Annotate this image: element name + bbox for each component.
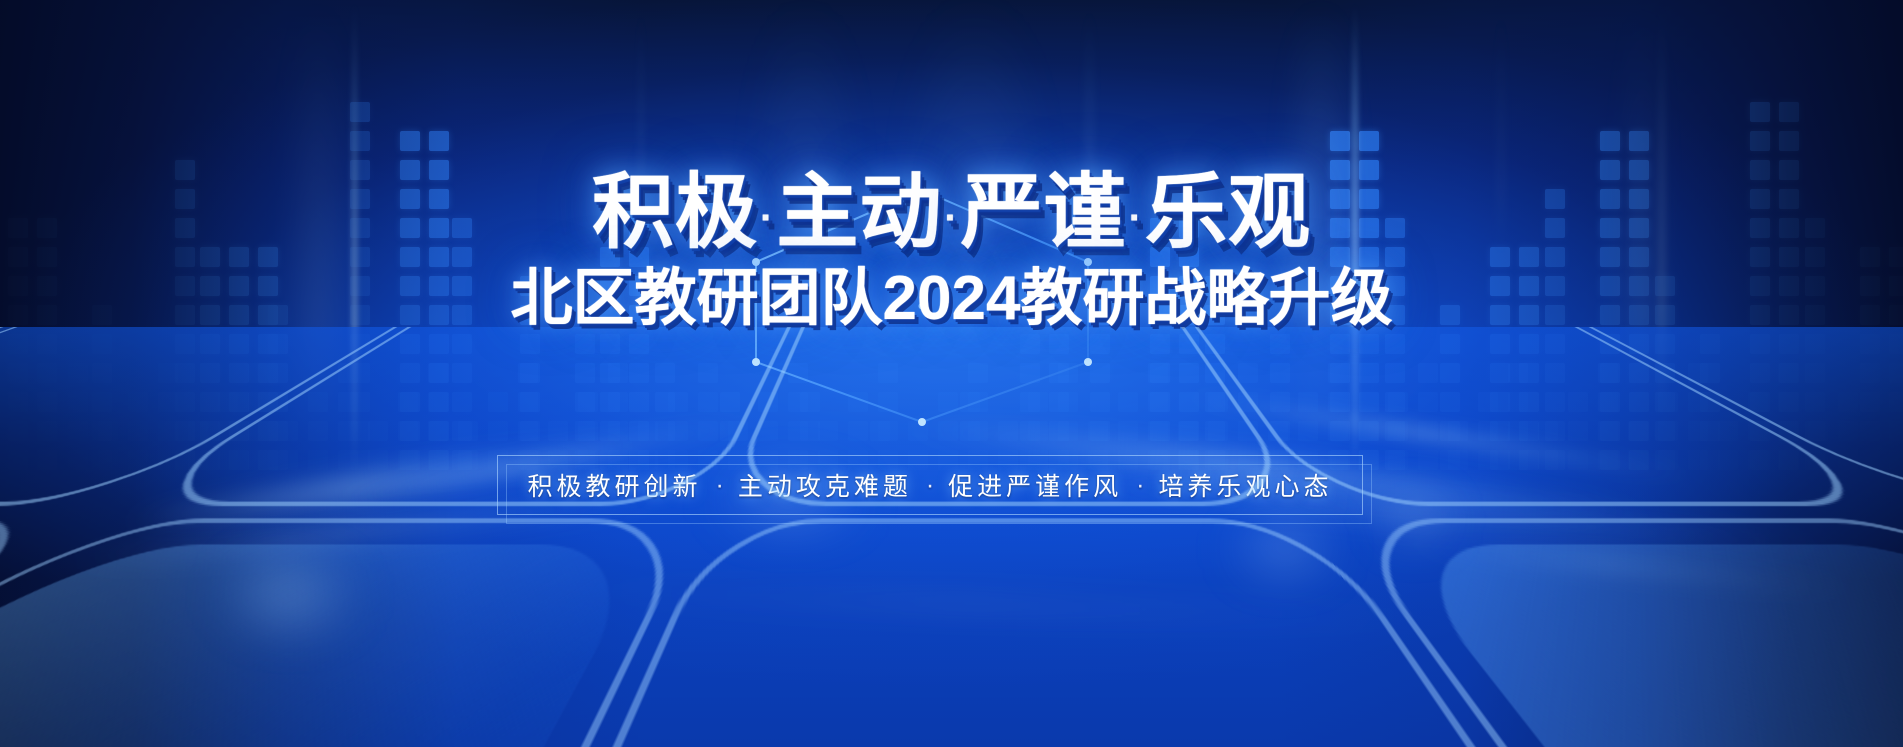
floor-tile-lit	[0, 544, 653, 747]
tagline-item: 积极教研创新	[527, 467, 701, 503]
tagline-separator: ·	[912, 471, 948, 500]
tagline-item: 主动攻克难题	[738, 467, 912, 503]
tagline-frame: 积极教研创新·主动攻克难题·促进严谨作风·培养乐观心态	[497, 455, 1363, 515]
tagline-separator: ·	[701, 471, 737, 500]
tagline-item: 促进严谨作风	[948, 467, 1122, 503]
hexagon-wireframe-icon	[716, 150, 1136, 440]
tagline-text: 积极教研创新·主动攻克难题·促进严谨作风·培养乐观心态	[498, 456, 1362, 514]
promo-banner: 积极·主动·严谨·乐观 北区教研团队2024教研战略升级 积极教研创新·主动攻克…	[0, 0, 1903, 747]
tagline-item: 培养乐观心态	[1159, 467, 1333, 503]
tagline-separator: ·	[1122, 471, 1158, 500]
